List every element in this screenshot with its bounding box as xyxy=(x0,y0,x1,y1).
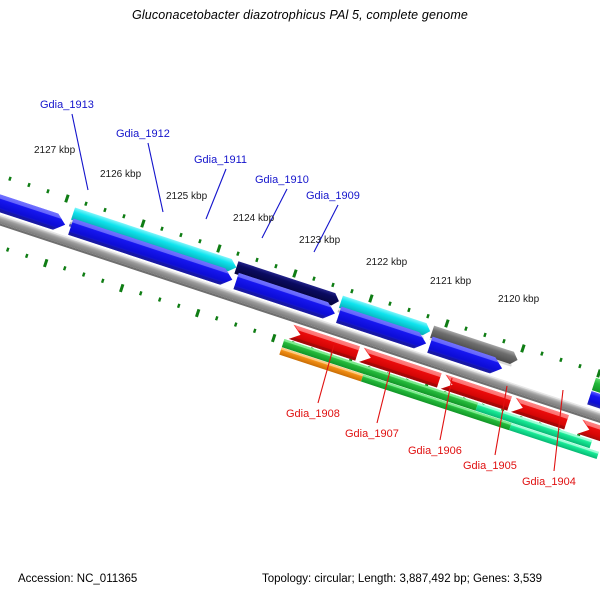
gene-label-Gdia_1907[interactable]: Gdia_1907 xyxy=(345,429,399,440)
gene-label-Gdia_1904[interactable]: Gdia_1904 xyxy=(522,477,576,488)
axis-tick-label-2124: 2124 kbp xyxy=(233,214,274,224)
gene-label-Gdia_1906[interactable]: Gdia_1906 xyxy=(408,446,462,457)
right-edge-fragments[interactable] xyxy=(587,378,600,412)
gene-label-Gdia_1911[interactable]: Gdia_1911 xyxy=(194,155,247,166)
gene-label-Gdia_1909[interactable]: Gdia_1909 xyxy=(306,191,360,202)
axis-tick-label-2123: 2123 kbp xyxy=(299,236,340,246)
gene-label-Gdia_1913[interactable]: Gdia_1913 xyxy=(40,100,94,111)
gene-label-Gdia_1912[interactable]: Gdia_1912 xyxy=(116,129,170,140)
axis-tick-label-2126: 2126 kbp xyxy=(100,170,141,180)
axis-tick-label-2125: 2125 kbp xyxy=(166,192,207,202)
gene-label-Gdia_1908[interactable]: Gdia_1908 xyxy=(286,409,340,420)
axis-tick-label-2121: 2121 kbp xyxy=(430,277,471,287)
accession-text: Accession: NC_011365 xyxy=(18,573,137,585)
axis-tick-label-2120: 2120 kbp xyxy=(498,295,539,305)
leader-line-Gdia_1912 xyxy=(148,143,163,212)
genome-summary-text: Topology: circular; Length: 3,887,492 bp… xyxy=(262,573,542,585)
axis-tick-label-2127: 2127 kbp xyxy=(34,146,75,156)
gene-label-Gdia_1905[interactable]: Gdia_1905 xyxy=(463,461,517,472)
gene-label-Gdia_1910[interactable]: Gdia_1910 xyxy=(255,175,309,186)
axis-tick-label-2122: 2122 kbp xyxy=(366,258,407,268)
leader-line-Gdia_1911 xyxy=(206,169,226,219)
